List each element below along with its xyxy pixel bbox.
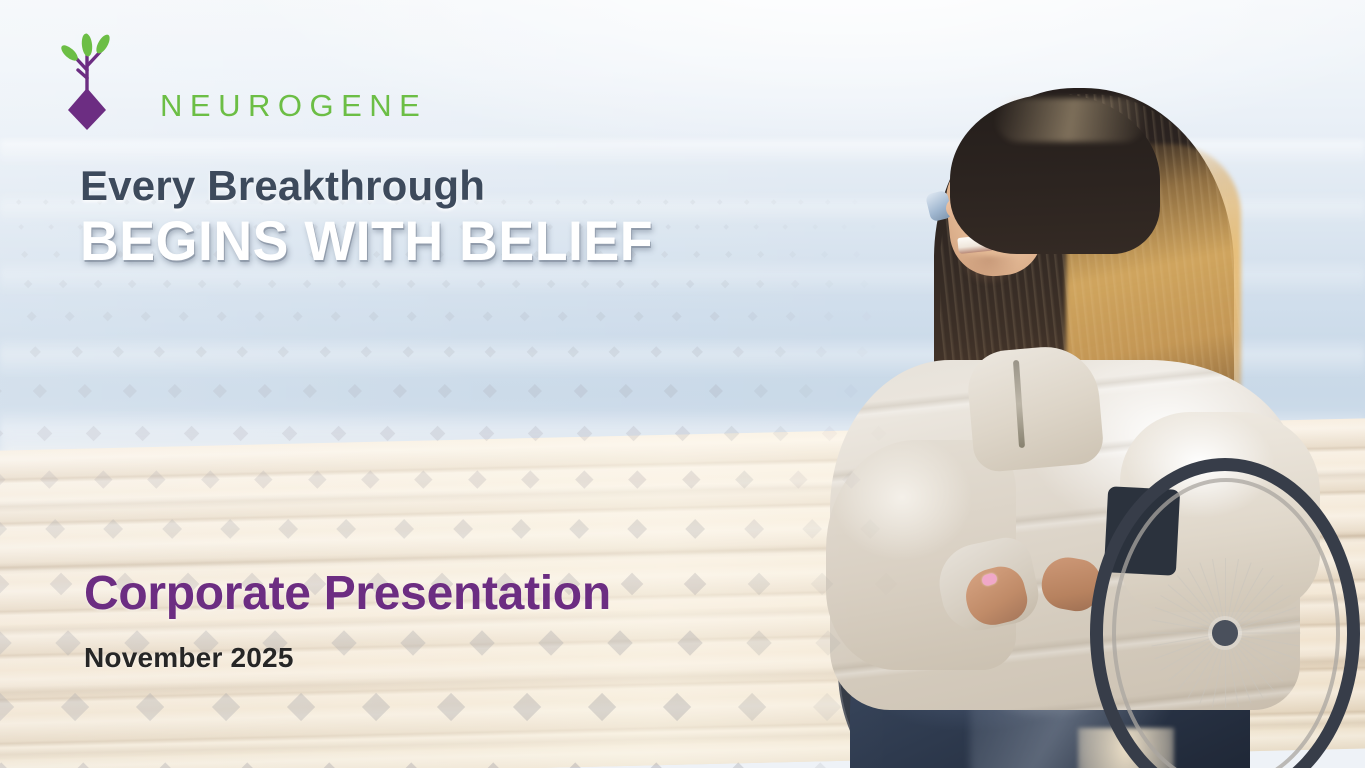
headline-block: Every Breakthrough BEGINS WITH BELIEF [80,164,677,270]
presentation-title: Corporate Presentation [84,568,611,620]
hair-bangs-sheen [996,98,1146,142]
sprout-diamond-icon [56,26,118,130]
wheelchair-push-rim [1112,478,1340,768]
subtitle-block: Corporate Presentation November 2025 [84,568,611,674]
headline-line-2: BEGINS WITH BELIEF [80,211,653,270]
title-slide: NEUROGENE Every Breakthrough BEGINS WITH… [0,0,1365,768]
headline-line-1: Every Breakthrough [80,164,677,209]
neurogene-wordmark: NEUROGENE [160,90,427,121]
chin-shadow [960,256,1018,284]
photo-subject-woman-in-wheelchair [820,60,1365,768]
presentation-date: November 2025 [84,642,611,674]
puffer-jacket-collar [965,343,1105,474]
neurogene-logo[interactable]: NEUROGENE [56,26,356,130]
